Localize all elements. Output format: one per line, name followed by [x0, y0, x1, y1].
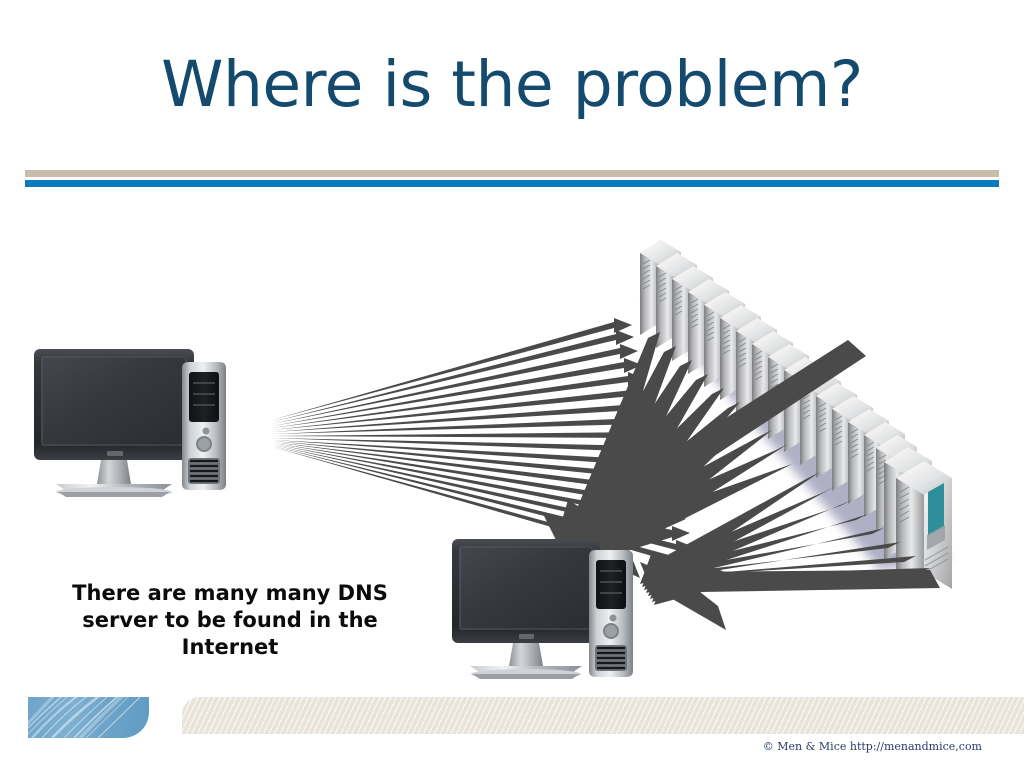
server-farm: [640, 240, 952, 589]
response-arrows-inbound: [542, 332, 940, 630]
query-arrows-outbound: [272, 318, 698, 569]
client-computer-left: [34, 349, 226, 497]
footer-stripe-panel: [182, 697, 1024, 734]
slide-canvas: Where is the problem?: [0, 0, 1024, 768]
caption-line-1: There are many many DNS: [34, 580, 426, 607]
footer-credit: © Men & Mice http://menandmice,com: [763, 740, 982, 753]
divider-rule-tan: [25, 170, 999, 177]
divider-rule-blue: [25, 180, 999, 187]
page-title: Where is the problem?: [0, 52, 1024, 118]
body-caption: There are many many DNS server to be fou…: [34, 580, 426, 661]
client-computer-bottom: [452, 539, 633, 679]
caption-line-2: server to be found in the Internet: [34, 607, 426, 661]
footer-wave-graphic: [28, 697, 149, 738]
